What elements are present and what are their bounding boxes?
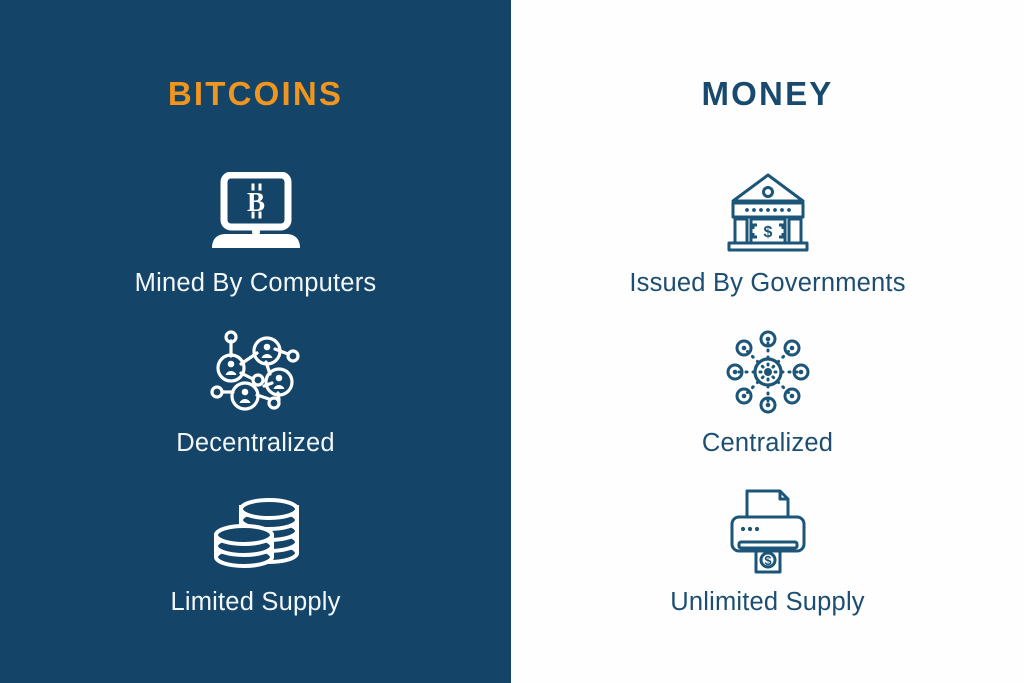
svg-text:$: $	[764, 553, 772, 568]
panel-title-bitcoins: BITCOINS	[168, 77, 343, 110]
list-item-label: Limited Supply	[170, 587, 340, 618]
list-item-label: Centralized	[702, 428, 833, 459]
bitcoins-item-list: B Mined By Computers	[0, 166, 511, 618]
list-item: B Mined By Computers	[0, 166, 511, 299]
panel-bitcoins: BITCOINS B	[0, 0, 511, 683]
money-item-list: $ Issued By Governments	[511, 166, 1024, 618]
list-item-label: Unlimited Supply	[670, 587, 865, 618]
money-printer-icon: $	[722, 485, 814, 577]
centralized-network-icon	[722, 326, 814, 418]
list-item: $ Unlimited Supply	[511, 485, 1024, 618]
coin-stacks-icon	[209, 485, 303, 577]
bank-building-icon: $	[723, 166, 813, 258]
list-item: Limited Supply	[0, 485, 511, 618]
panel-money: MONEY	[511, 0, 1024, 683]
svg-text:B: B	[246, 187, 264, 217]
list-item-label: Issued By Governments	[629, 268, 905, 299]
svg-text:$: $	[763, 224, 772, 241]
panel-title-money: MONEY	[701, 77, 833, 110]
laptop-bitcoin-icon: B	[204, 166, 308, 258]
decentralized-network-icon	[209, 326, 303, 418]
comparison-infographic: BITCOINS B	[0, 0, 1024, 683]
list-item: Decentralized	[0, 326, 511, 459]
list-item: $ Issued By Governments	[511, 166, 1024, 299]
list-item: Centralized	[511, 326, 1024, 459]
list-item-label: Decentralized	[176, 428, 335, 459]
list-item-label: Mined By Computers	[135, 268, 377, 299]
